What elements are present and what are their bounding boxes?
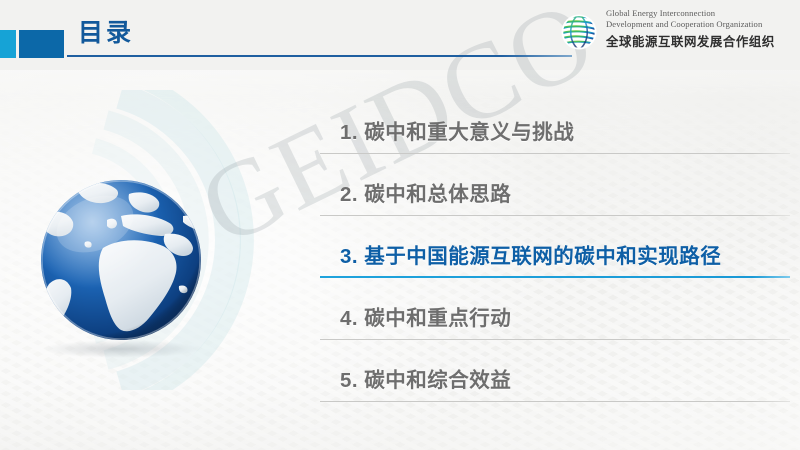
logo-cn-name: 全球能源互联网发展合作组织: [606, 32, 796, 50]
logo-en-line2: Development and Cooperation Organization: [606, 19, 796, 30]
toc-item-2[interactable]: 2. 碳中和总体思路: [320, 154, 792, 216]
logo-en-line1: Global Energy Interconnection: [606, 8, 796, 19]
page-title: 目录: [78, 21, 134, 46]
toc-item-label: 2. 碳中和总体思路: [340, 177, 511, 207]
toc-item-label: 1. 碳中和重大意义与挑战: [340, 115, 574, 145]
toc-item-label: 3. 基于中国能源互联网的碳中和实现路径: [340, 239, 721, 269]
logo-text-block: Global Energy Interconnection Developmen…: [606, 8, 796, 50]
header-accent-square-light: [0, 30, 16, 58]
slide-canvas: GEIDCO 目录: [0, 0, 800, 450]
toc-item-label: 5. 碳中和综合效益: [340, 363, 511, 393]
toc-item-4[interactable]: 4. 碳中和重点行动: [320, 278, 792, 340]
toc-item-3-active[interactable]: 3. 基于中国能源互联网的碳中和实现路径: [320, 216, 792, 278]
toc-item-divider: [320, 401, 790, 402]
header-underline: [67, 55, 572, 57]
earth-globe-illustration: [33, 172, 209, 348]
toc-item-label: 4. 碳中和重点行动: [340, 301, 511, 331]
toc-item-5[interactable]: 5. 碳中和综合效益: [320, 340, 792, 402]
striped-globe-icon: [556, 9, 602, 55]
organization-logo: Global Energy Interconnection Developmen…: [556, 6, 796, 58]
header-accent-square-dark: [19, 30, 64, 58]
table-of-contents: 1. 碳中和重大意义与挑战 2. 碳中和总体思路 3. 基于中国能源互联网的碳中…: [320, 92, 792, 402]
toc-item-1[interactable]: 1. 碳中和重大意义与挑战: [320, 92, 792, 154]
